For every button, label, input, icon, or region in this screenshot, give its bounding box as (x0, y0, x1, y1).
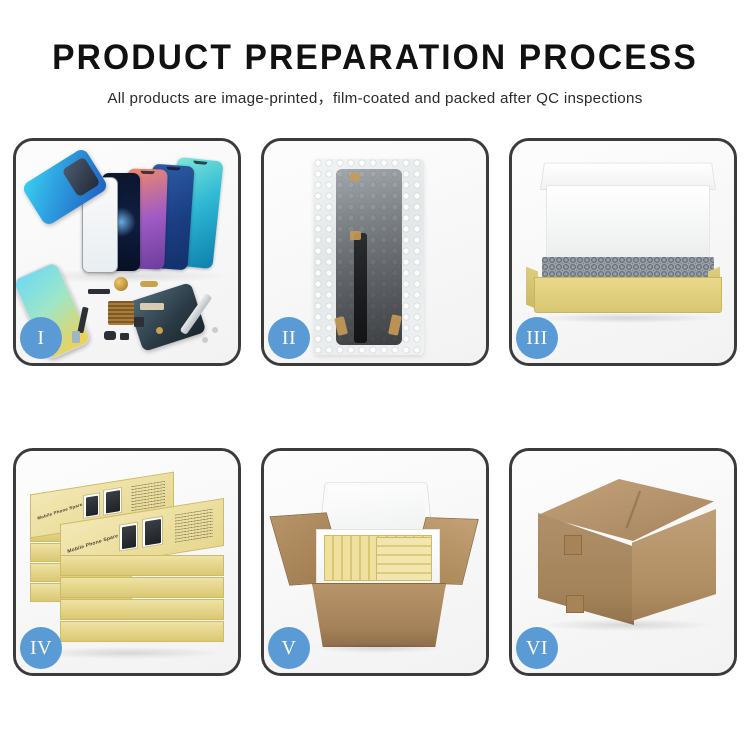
sim-tray-part (72, 331, 80, 343)
drop-shadow (538, 313, 714, 323)
process-step-panel-6[interactable]: VI (509, 448, 737, 676)
box-front-panel (534, 277, 722, 313)
notch-icon (193, 161, 207, 165)
box-window (119, 522, 138, 552)
step-badge-1: I (20, 317, 62, 359)
step-badge-5: V (268, 627, 310, 669)
notch-icon (141, 171, 155, 174)
carton-tape-lower (566, 595, 584, 613)
box-window (142, 516, 163, 548)
process-step-panel-4[interactable]: Mobile Phone Spare Parts Mobile Phone Sp… (13, 448, 241, 676)
box-window (83, 492, 100, 519)
yellow-boxes-row-right (376, 537, 432, 581)
step-badge-2: II (268, 317, 310, 359)
step-badge-4: IV (20, 627, 62, 669)
button-part (120, 333, 129, 340)
drop-shadow (542, 619, 712, 631)
tape-piece (350, 231, 361, 240)
screen-thumbnail (122, 525, 136, 549)
speaker-part (114, 277, 128, 291)
tape-piece (350, 173, 360, 181)
process-step-panel-5[interactable]: V (261, 448, 489, 676)
process-step-panel-3[interactable]: III (509, 138, 737, 366)
box-side (60, 621, 224, 642)
drop-shadow (316, 643, 440, 653)
styrofoam-lid (319, 482, 433, 534)
box-side (60, 599, 224, 620)
process-step-panel-1[interactable]: I (13, 138, 241, 366)
notch-icon (114, 175, 128, 178)
box-spec-lines (175, 509, 213, 543)
page-header: PRODUCT PREPARATION PROCESS All products… (0, 0, 750, 108)
box-stack: Mobile Phone Spare Parts Mobile Phone Sp… (24, 477, 232, 655)
carton-tape-upper (564, 535, 582, 555)
camera-module-part (134, 317, 144, 327)
gold-connector-part (140, 281, 158, 287)
box-side (60, 577, 224, 598)
screen-thumbnail (106, 490, 120, 513)
shield-grid-part (108, 301, 134, 325)
step-badge-3: III (516, 317, 558, 359)
screw-part (202, 337, 208, 343)
screw-part (212, 327, 218, 333)
screen-thumbnail (145, 519, 161, 546)
process-step-grid: I II III (13, 138, 737, 676)
white-foam-sheet (546, 185, 710, 259)
screen-thumbnail (86, 495, 98, 516)
box-window (103, 487, 122, 516)
flex-cable-part (88, 289, 110, 294)
notch-icon (166, 167, 180, 171)
bubble-wrap-bag (314, 159, 424, 355)
ribbon-cable-part (77, 307, 88, 334)
adhesive-strip-part (140, 303, 164, 310)
page-title: PRODUCT PREPARATION PROCESS (15, 40, 735, 77)
box-side (60, 555, 224, 576)
vibrator-part (104, 331, 116, 340)
process-step-panel-2[interactable]: II (261, 138, 489, 366)
screw-part (156, 327, 163, 334)
step-badge-6: VI (516, 627, 558, 669)
page-subtitle: All products are image-printed，film-coat… (0, 86, 750, 108)
carton-body (312, 583, 446, 647)
wrapped-flex-cable (354, 233, 367, 343)
